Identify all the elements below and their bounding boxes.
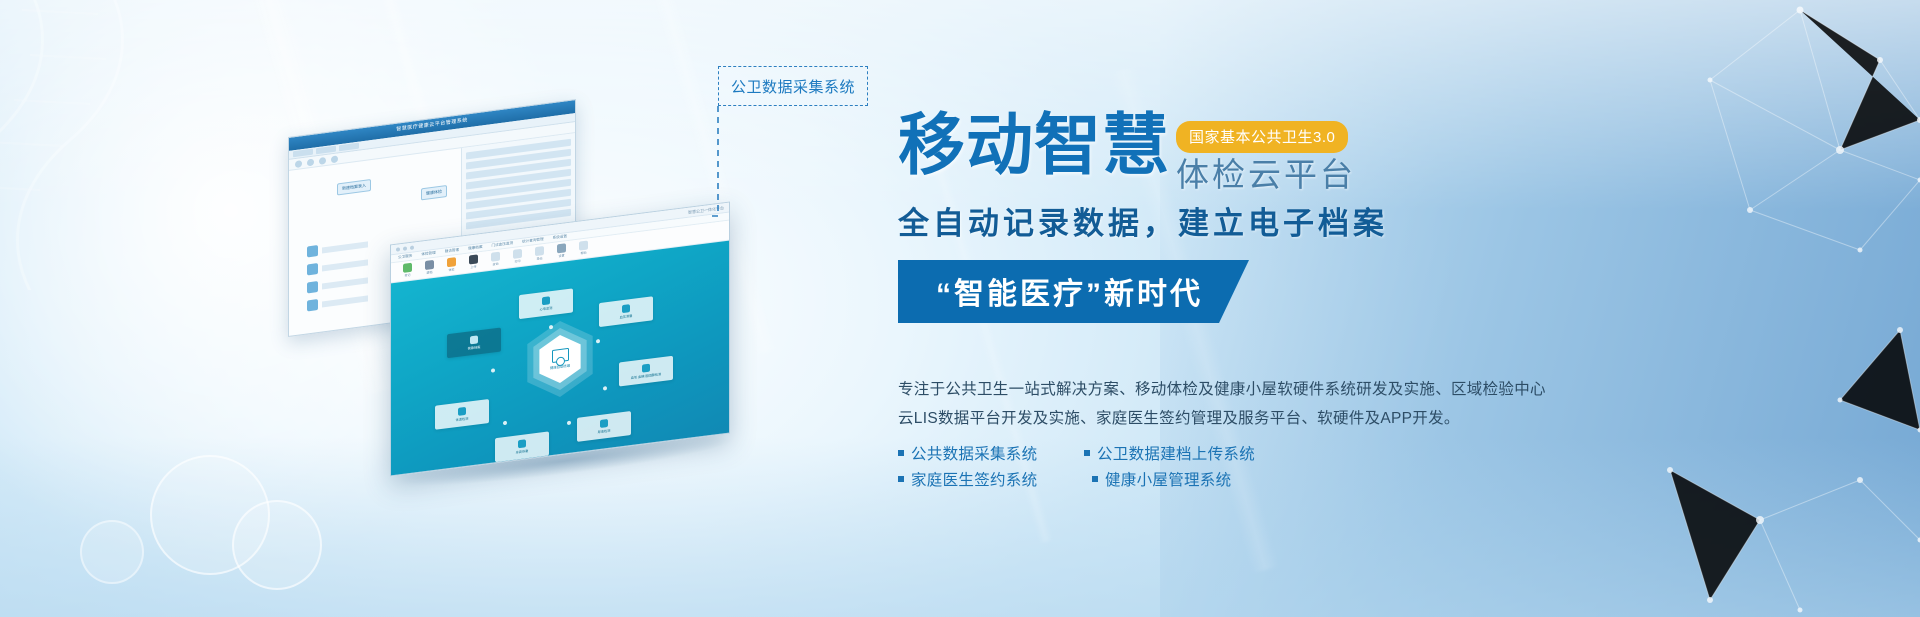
feature-list: 公共数据采集系统 公卫数据建档上传系统 家庭医生签约系统 健康小屋管理系统	[898, 442, 1338, 490]
mockup-toolbar-button: 上传	[469, 254, 478, 272]
archive-icon	[425, 260, 434, 270]
mockup-toolbar-button: 打印	[513, 249, 522, 267]
export-icon	[535, 246, 544, 256]
dashboard-node: 体温检测	[435, 399, 489, 430]
heading-side: 国家基本公共卫生3.0 体检云平台	[1176, 112, 1356, 196]
dna-helix-icon	[0, 0, 270, 290]
mockup-menu-item: 系统设置	[553, 234, 567, 241]
folder-icon	[470, 335, 478, 344]
callout-label: 公卫数据采集系统	[731, 76, 855, 97]
mockup-toolbar-button: 体检	[447, 257, 456, 275]
mockup-window-front: 智慧公卫一体化平台 公卫服务 体检管理 随访管理 健康档案 门诊血压监测 统计查…	[390, 202, 730, 477]
dashboard-node: 心电监测	[519, 288, 573, 319]
hub-connector-dot	[567, 421, 571, 426]
heading-line-2: 全自动记录数据，建立电子档案	[898, 198, 1798, 243]
page-title: 移动智慧	[898, 112, 1170, 180]
list-item[interactable]: 健康小屋管理系统	[1084, 468, 1338, 490]
mockup-tool-icon	[331, 155, 338, 163]
mockup-node-icon	[307, 245, 318, 257]
search-icon	[491, 252, 500, 262]
product-screenshots: 智慧医疗健康云平台管理系统 新建档案录入 健康体检	[280, 118, 740, 458]
list-item-label: 健康小屋管理系统	[1105, 468, 1231, 490]
blood-test-icon	[642, 364, 650, 373]
gear-icon	[557, 243, 566, 253]
dashboard-node: 健康档案	[447, 327, 501, 358]
mockup-menu-item: 随访管理	[445, 248, 459, 255]
status-badge: 国家基本公共卫生3.0	[1176, 121, 1348, 153]
window-controls	[396, 245, 414, 251]
upload-icon	[469, 254, 478, 264]
mockup-node-icon	[307, 299, 318, 311]
dashboard-hub: 健康自助终端	[522, 316, 598, 402]
list-item-label: 家庭医生签约系统	[911, 468, 1037, 490]
mockup-menu-item: 健康档案	[468, 245, 482, 252]
list-item[interactable]: 家庭医生签约系统	[898, 468, 1058, 490]
description-line-2: 云LIS数据平台开发及实施、家庭医生签约管理及服务平台、软硬件及APP开发。	[898, 404, 1798, 433]
mockup-chip: 新建档案录入	[337, 179, 371, 195]
mockup-tool-icon	[307, 158, 314, 166]
bullet-icon	[898, 450, 904, 456]
window-dot	[403, 246, 407, 251]
list-item[interactable]: 公卫数据建档上传系统	[1084, 442, 1338, 464]
help-icon	[579, 240, 588, 250]
bp-icon	[622, 304, 630, 313]
health-record-icon	[552, 348, 569, 363]
hub-connector-dot	[503, 421, 507, 426]
page-subtitle: 体检云平台	[1176, 148, 1356, 196]
bullet-icon	[1092, 476, 1098, 482]
mockup-toolbar-button: 导出	[535, 246, 544, 264]
description-paragraph: 专注于公共卫生一站式解决方案、移动体检及健康小屋软硬件系统研发及实施、区域检验中…	[898, 375, 1798, 434]
list-item[interactable]: 公共数据采集系统	[898, 442, 1058, 464]
mockup-toolbar-button: 查询	[491, 252, 500, 270]
heading-row: 移动智慧 国家基本公共卫生3.0 体检云平台	[898, 112, 1798, 196]
mockup-toolbar-button: 设置	[557, 243, 566, 261]
description-line-1: 专注于公共卫生一站式解决方案、移动体检及健康小屋软硬件系统研发及实施、区域检验中…	[898, 375, 1798, 404]
mockup-menu-item: 公卫服务	[398, 254, 412, 261]
hub-connector-dot	[491, 368, 495, 373]
tagline-ribbon: “智能医疗”新时代	[898, 260, 1249, 323]
mockup-node-icon	[307, 263, 318, 275]
heart-icon	[542, 296, 550, 305]
height-weight-icon	[518, 439, 526, 448]
callout-box: 公卫数据采集系统	[718, 66, 868, 106]
mockup-tool-icon	[319, 156, 326, 164]
dashboard-node: 尿液检测	[577, 411, 631, 442]
hub-connector-dot	[603, 386, 607, 391]
bullet-icon	[1084, 450, 1090, 456]
list-item-label: 公共数据采集系统	[911, 442, 1037, 464]
list-item-label: 公卫数据建档上传系统	[1097, 442, 1255, 464]
window-dot	[396, 247, 400, 252]
banner-text-column: 移动智慧 国家基本公共卫生3.0 体检云平台 全自动记录数据，建立电子档案 “智…	[898, 112, 1798, 490]
mockup-toolbar-button: 帮助	[579, 240, 588, 258]
exam-icon	[447, 257, 456, 267]
dashboard-node: 血氧 血糖 胆固醇检测	[619, 356, 673, 387]
window-dot	[410, 245, 414, 250]
decorative-circle	[232, 500, 322, 590]
dashboard-node: 血压测量	[599, 296, 653, 327]
register-icon	[403, 263, 412, 273]
bullet-icon	[898, 476, 904, 482]
banner-stage: 智慧医疗健康云平台管理系统 新建档案录入 健康体检	[0, 0, 1920, 617]
mockup-menu-item: 体检管理	[421, 251, 435, 258]
urine-icon	[600, 419, 608, 428]
mockup-chip: 健康体检	[421, 185, 447, 200]
mockup-toolbar-button: 登记	[403, 263, 412, 281]
decorative-circle	[80, 520, 144, 584]
mockup-tool-icon	[295, 160, 302, 168]
hub-connector-dot	[596, 339, 600, 344]
thermometer-icon	[458, 407, 466, 416]
print-icon	[513, 249, 522, 259]
mockup-node-icon	[307, 281, 318, 293]
mockup-toolbar-button: 建档	[425, 260, 434, 278]
